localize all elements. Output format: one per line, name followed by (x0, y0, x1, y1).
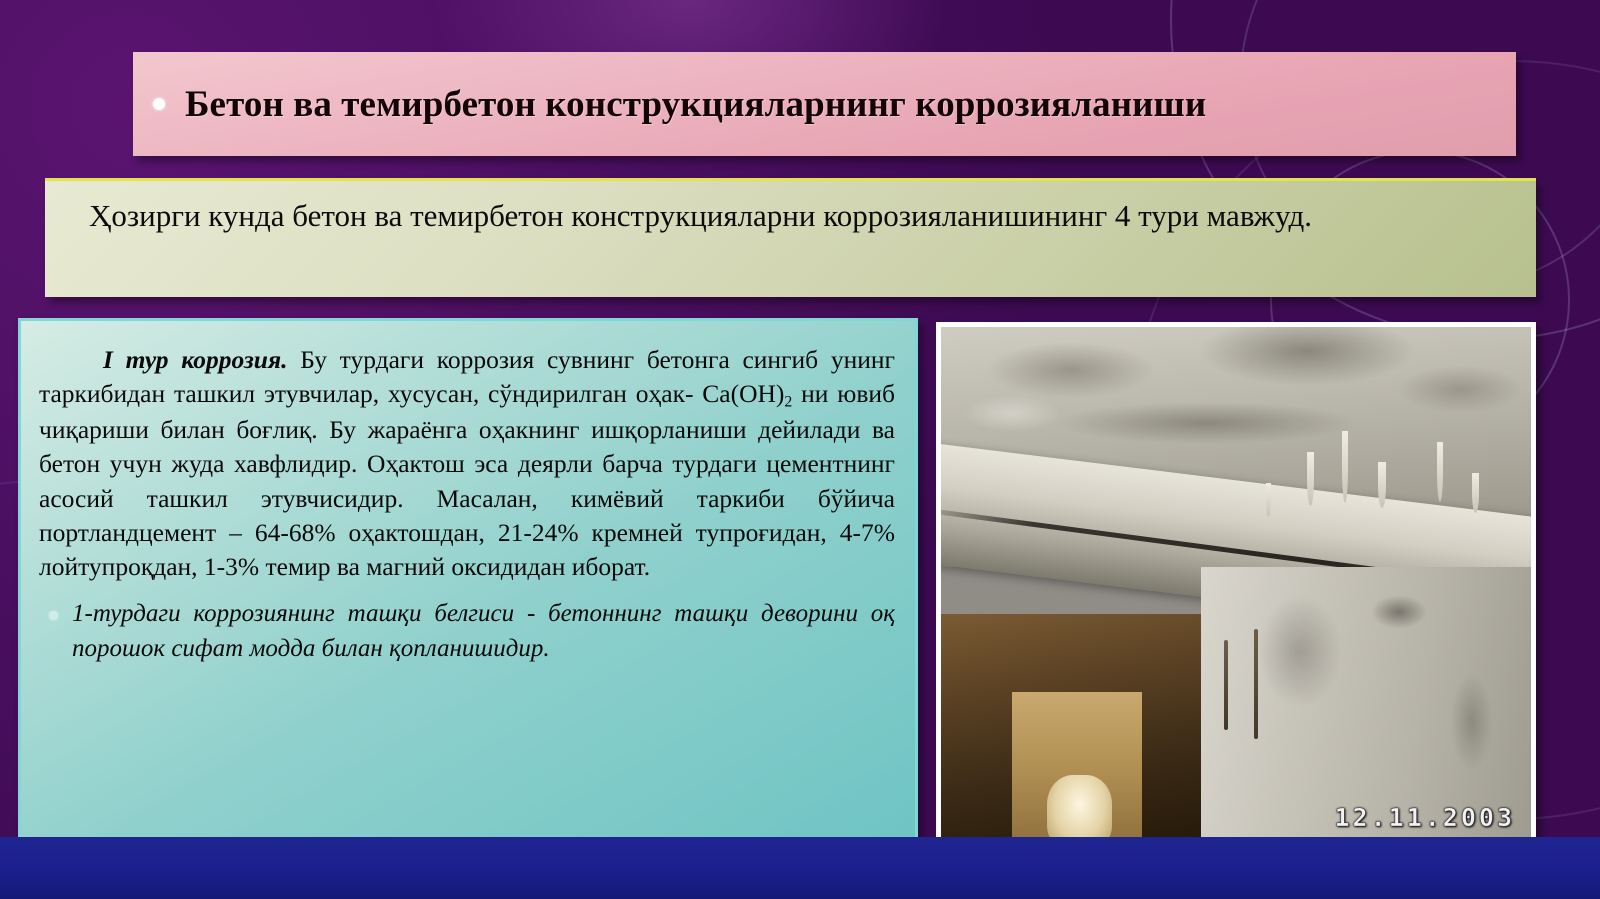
photo-frame: 12.11.2003 (936, 322, 1536, 853)
photo-date-stamp: 12.11.2003 (1334, 803, 1515, 832)
photo-drip-4 (1437, 442, 1443, 502)
content-panel: I тур коррозия. Бу турдаги коррозия сувн… (18, 318, 918, 853)
photo-drip-3 (1378, 462, 1386, 508)
bullet-dot-icon (49, 611, 58, 620)
bullet-dot-icon (153, 98, 165, 110)
concrete-damage-photo: 12.11.2003 (941, 327, 1531, 848)
paragraph-text-part-2: ни ювиб чиқариши билан боғлиқ. Бу жараён… (39, 379, 895, 581)
slide-title-bar: Бетон ва темирбетон конструкцияларнинг к… (133, 52, 1516, 156)
page-title: Бетон ва темирбетон конструкцияларнинг к… (185, 83, 1206, 126)
photo-drip-6 (1266, 483, 1271, 517)
photo-drip-1 (1307, 452, 1314, 506)
list-item: 1-турдаги коррозиянинг ташқи белгиси - б… (39, 597, 895, 666)
photo-rebar-2 (1254, 629, 1258, 739)
photo-light-source (1047, 775, 1112, 848)
body-paragraph: I тур коррозия. Бу турдаги коррозия сувн… (39, 343, 895, 584)
subtitle-panel: Ҳозирги кунда бетон ва темирбетон констр… (45, 178, 1536, 297)
photo-rebar-1 (1224, 640, 1228, 730)
list-item-label: 1-турдаги коррозиянинг ташқи белгиси - б… (72, 597, 895, 666)
bottom-light-streak (365, 837, 495, 899)
paragraph-lead-label: I тур коррозия. (103, 345, 288, 374)
photo-drip-5 (1472, 473, 1479, 513)
subtitle-text: Ҳозирги кунда бетон ва темирбетон констр… (67, 195, 1516, 236)
presentation-slide: Бетон ва темирбетон конструкцияларнинг к… (0, 0, 1600, 899)
